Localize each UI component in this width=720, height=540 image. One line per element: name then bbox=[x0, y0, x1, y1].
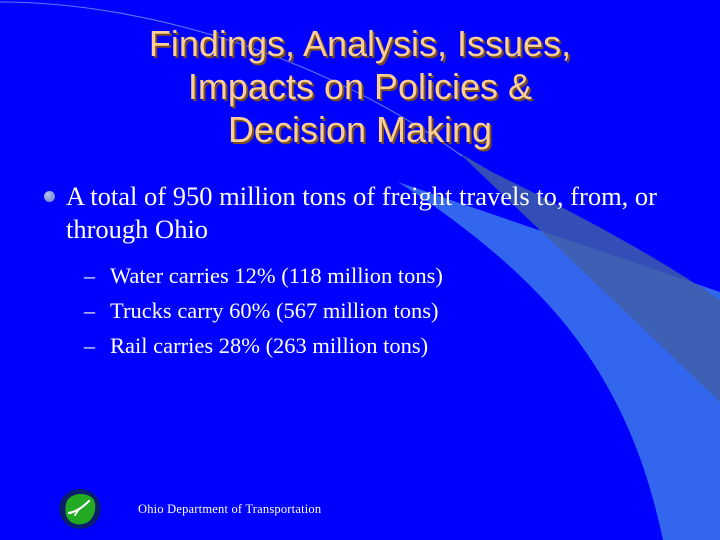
sub-bullet-trucks-text: Trucks carry 60% (567 million tons) bbox=[110, 295, 674, 326]
sub-bullet-rail-text: Rail carries 28% (263 million tons) bbox=[110, 330, 674, 361]
bullet-primary-text: A total of 950 million tons of freight t… bbox=[66, 180, 674, 246]
sub-bullet-trucks: – Trucks carry 60% (567 million tons) bbox=[84, 295, 674, 326]
sub-bullet-water-text: Water carries 12% (118 million tons) bbox=[110, 260, 674, 291]
en-dash-icon: – bbox=[84, 295, 110, 326]
footer-organization-label: Ohio Department of Transportation bbox=[138, 501, 321, 517]
odot-logo-icon bbox=[58, 488, 102, 530]
en-dash-icon: – bbox=[84, 260, 110, 291]
title-line-2: Impacts on Policies & bbox=[40, 65, 680, 108]
slide-body: A total of 950 million tons of freight t… bbox=[44, 180, 674, 365]
en-dash-icon: – bbox=[84, 330, 110, 361]
title-line-3: Decision Making bbox=[40, 108, 680, 151]
disc-bullet-icon bbox=[44, 180, 66, 202]
title-line-1: Findings, Analysis, Issues, bbox=[40, 22, 680, 65]
slide-title: Findings, Analysis, Issues, Impacts on P… bbox=[40, 22, 680, 151]
sub-bullet-water: – Water carries 12% (118 million tons) bbox=[84, 260, 674, 291]
sub-bullet-list: – Water carries 12% (118 million tons) –… bbox=[44, 260, 674, 361]
presentation-slide: Findings, Analysis, Issues, Impacts on P… bbox=[0, 0, 720, 540]
sub-bullet-rail: – Rail carries 28% (263 million tons) bbox=[84, 330, 674, 361]
bullet-item-primary: A total of 950 million tons of freight t… bbox=[44, 180, 674, 246]
slide-footer: Ohio Department of Transportation bbox=[58, 488, 321, 530]
